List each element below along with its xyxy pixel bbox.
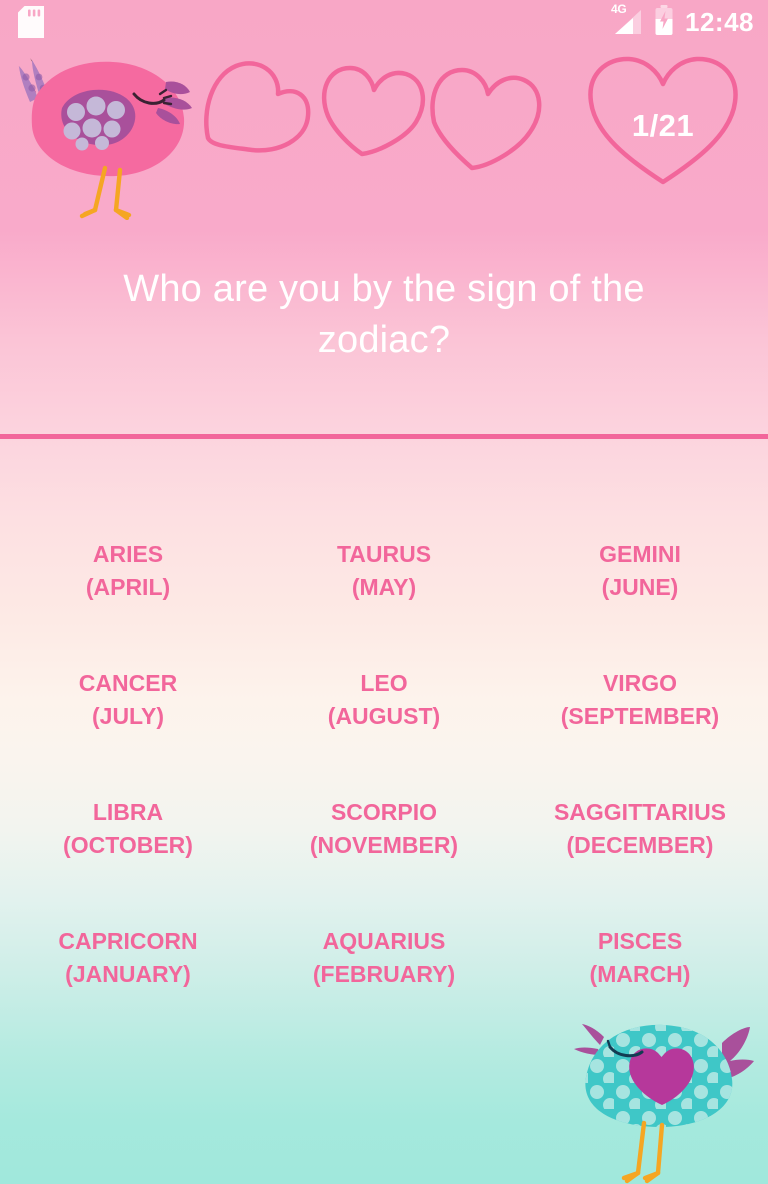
answer-option-cancer[interactable]: CANCER (JULY) (0, 639, 256, 768)
answer-option-pisces[interactable]: PISCES (MARCH) (512, 897, 768, 1026)
answer-option-aquarius[interactable]: AQUARIUS (FEBRUARY) (256, 897, 512, 1026)
answer-month: (MARCH) (590, 958, 691, 991)
answer-month: (JANUARY) (65, 958, 191, 991)
answer-option-virgo[interactable]: VIRGO (SEPTEMBER) (512, 639, 768, 768)
answer-sign: CAPRICORN (58, 925, 197, 958)
answer-sign: AQUARIUS (323, 925, 446, 958)
answer-sign: CANCER (79, 667, 177, 700)
answer-option-gemini[interactable]: GEMINI (JUNE) (512, 510, 768, 639)
answer-sign: SAGGITTARIUS (554, 796, 726, 829)
answer-option-taurus[interactable]: TAURUS (MAY) (256, 510, 512, 639)
quiz-screen: 4G 12:48 (0, 0, 768, 1184)
answer-sign: GEMINI (599, 538, 681, 571)
answer-sign: ARIES (93, 538, 163, 571)
answer-month: (APRIL) (86, 571, 170, 604)
answer-month: (JULY) (92, 700, 164, 733)
header-divider (0, 434, 768, 439)
answer-sign: SCORPIO (331, 796, 437, 829)
status-bar-left (18, 6, 44, 38)
answer-option-leo[interactable]: LEO (AUGUST) (256, 639, 512, 768)
clock-label: 12:48 (685, 9, 754, 35)
progress-label: 1/21 (583, 50, 743, 190)
answer-month: (MAY) (352, 571, 416, 604)
status-bar: 4G 12:48 (0, 0, 768, 44)
answer-sign: LEO (360, 667, 407, 700)
answer-sign: VIRGO (603, 667, 677, 700)
answer-option-aries[interactable]: ARIES (APRIL) (0, 510, 256, 639)
answer-month: (DECEMBER) (567, 829, 714, 862)
answer-option-capricorn[interactable]: CAPRICORN (JANUARY) (0, 897, 256, 1026)
answer-sign: TAURUS (337, 538, 431, 571)
question-text: Who are you by the sign of the zodiac? (0, 264, 768, 367)
answer-option-scorpio[interactable]: SCORPIO (NOVEMBER) (256, 768, 512, 897)
network-type-label: 4G (611, 3, 626, 15)
answer-month: (AUGUST) (328, 700, 440, 733)
answer-month: (OCTOBER) (63, 829, 193, 862)
answer-month: (JUNE) (602, 571, 679, 604)
battery-charging-icon (654, 5, 674, 40)
pink-bird-icon (6, 50, 206, 220)
status-bar-right: 4G 12:48 (611, 5, 754, 40)
answer-sign: PISCES (598, 925, 682, 958)
answer-option-libra[interactable]: LIBRA (OCTOBER) (0, 768, 256, 897)
answer-grid: ARIES (APRIL) TAURUS (MAY) GEMINI (JUNE)… (0, 510, 768, 1026)
answer-option-saggittarius[interactable]: SAGGITTARIUS (DECEMBER) (512, 768, 768, 897)
lives-hearts (200, 50, 560, 180)
answer-month: (NOVEMBER) (310, 829, 458, 862)
quiz-header: 1/21 Who are you by the sign of the zodi… (0, 44, 768, 438)
signal-bars-icon: 4G (611, 7, 645, 37)
teal-bird-icon (562, 1005, 768, 1184)
sd-card-icon (18, 6, 44, 38)
answer-sign: LIBRA (93, 796, 163, 829)
progress-heart: 1/21 (583, 50, 743, 190)
answer-month: (SEPTEMBER) (561, 700, 719, 733)
answer-month: (FEBRUARY) (313, 958, 455, 991)
